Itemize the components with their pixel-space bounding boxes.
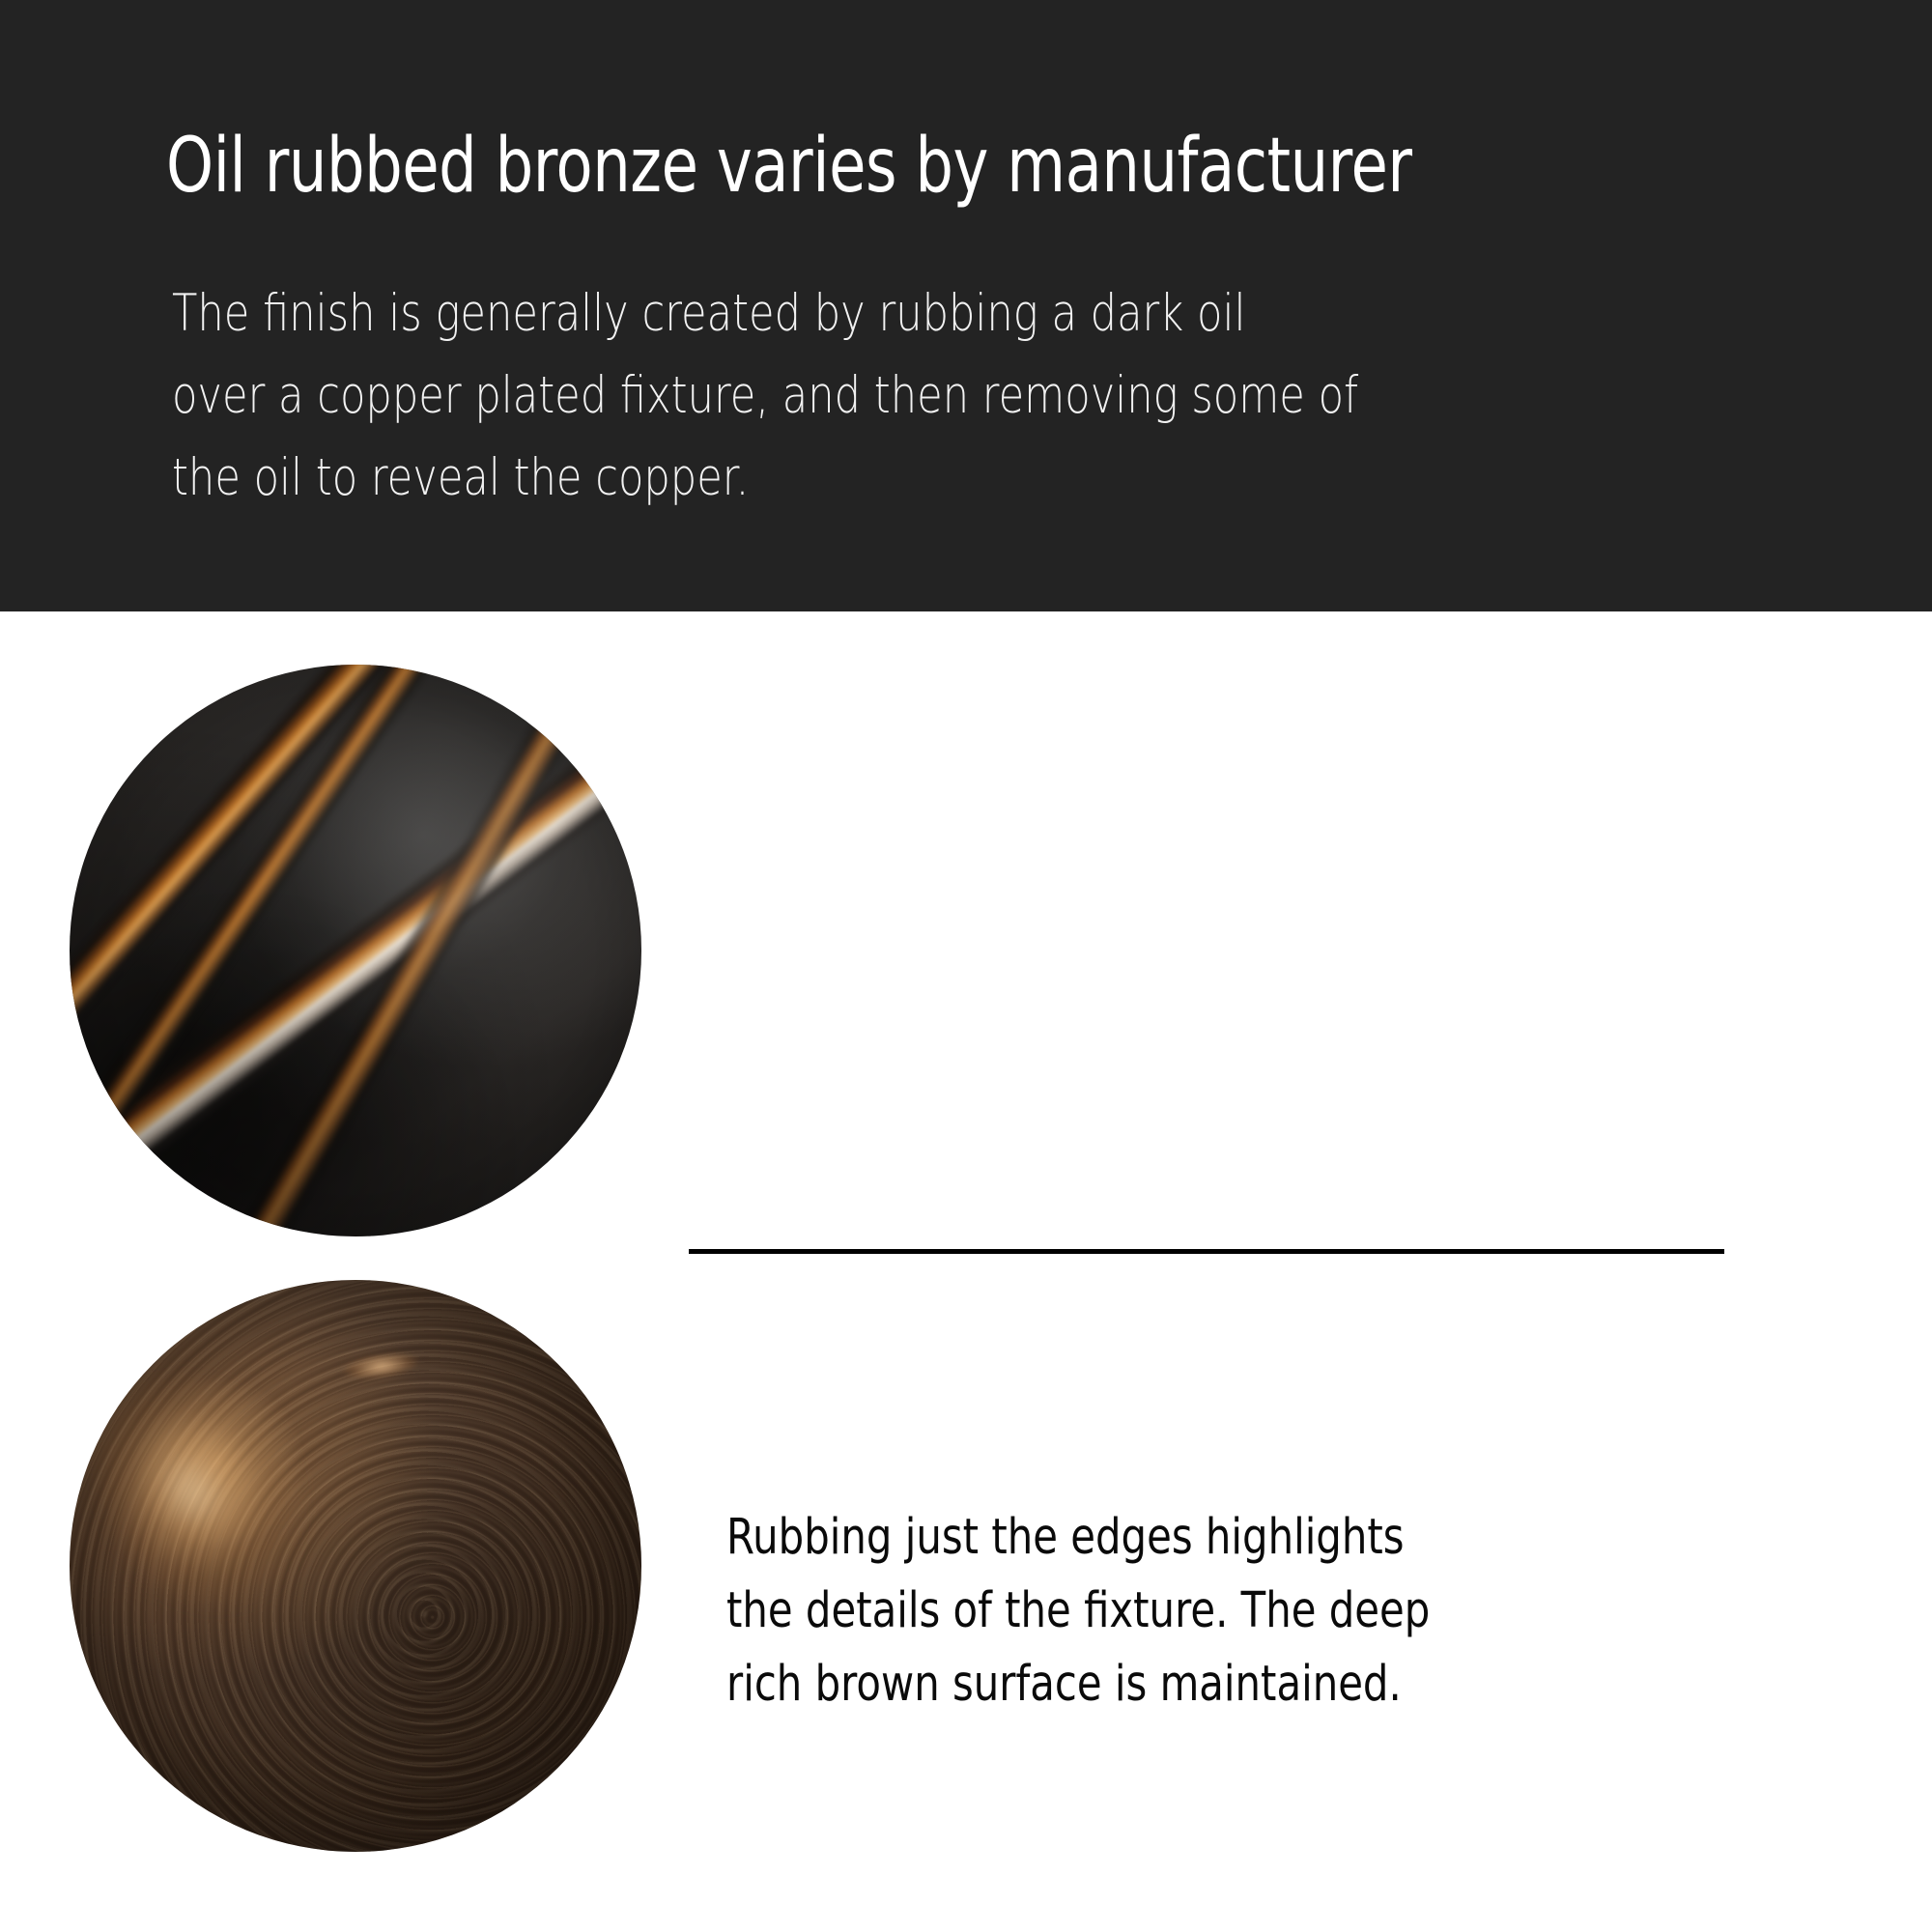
copper-highlight-band-upper: [70, 665, 641, 809]
header-band: Oil rubbed bronze varies by manufacturer…: [0, 0, 1932, 611]
gloss-sheen-overlay: [70, 665, 641, 1236]
page-title: Oil rubbed bronze varies by manufacturer: [166, 128, 1480, 204]
header-description-line-1: The finish is generally created by rubbi…: [172, 272, 1463, 355]
copper-highlight-band-lower-left: [70, 665, 534, 1236]
copper-speck-highlight: [343, 1350, 419, 1382]
swatch-row-edge-rubbed: Rubbing just the edges highlights the de…: [0, 665, 1932, 1236]
header-description-line-3: the oil to reveal the copper.: [172, 437, 1463, 519]
copper-highlight-band-left: [70, 665, 641, 1139]
oil-rubbed-bronze-infographic: Oil rubbed bronze varies by manufacturer…: [0, 0, 1932, 1932]
header-description-line-2: over a copper plated fixture, and then r…: [172, 355, 1463, 437]
copper-highlight-band-middle: [93, 665, 641, 1176]
swatch-row-fully-brushed: Brushing the entire surface creates a di…: [0, 1280, 1932, 1852]
header-description: The finish is generally created by rubbi…: [172, 272, 1463, 519]
dark-oil-band-upper: [70, 665, 641, 871]
copper-highlight-upper-left: [70, 1340, 343, 1643]
concentric-brush-texture-fine: [70, 1280, 641, 1852]
fully-brushed-oil-rubbed-bronze-swatch: [70, 1280, 641, 1852]
sphere-vignette-overlay: [70, 1280, 641, 1852]
section-divider: [689, 1249, 1724, 1254]
edge-rubbed-oil-rubbed-bronze-swatch: [70, 665, 641, 1236]
copper-highlight-band-lower: [82, 665, 641, 1236]
concentric-brush-texture: [70, 1280, 641, 1852]
